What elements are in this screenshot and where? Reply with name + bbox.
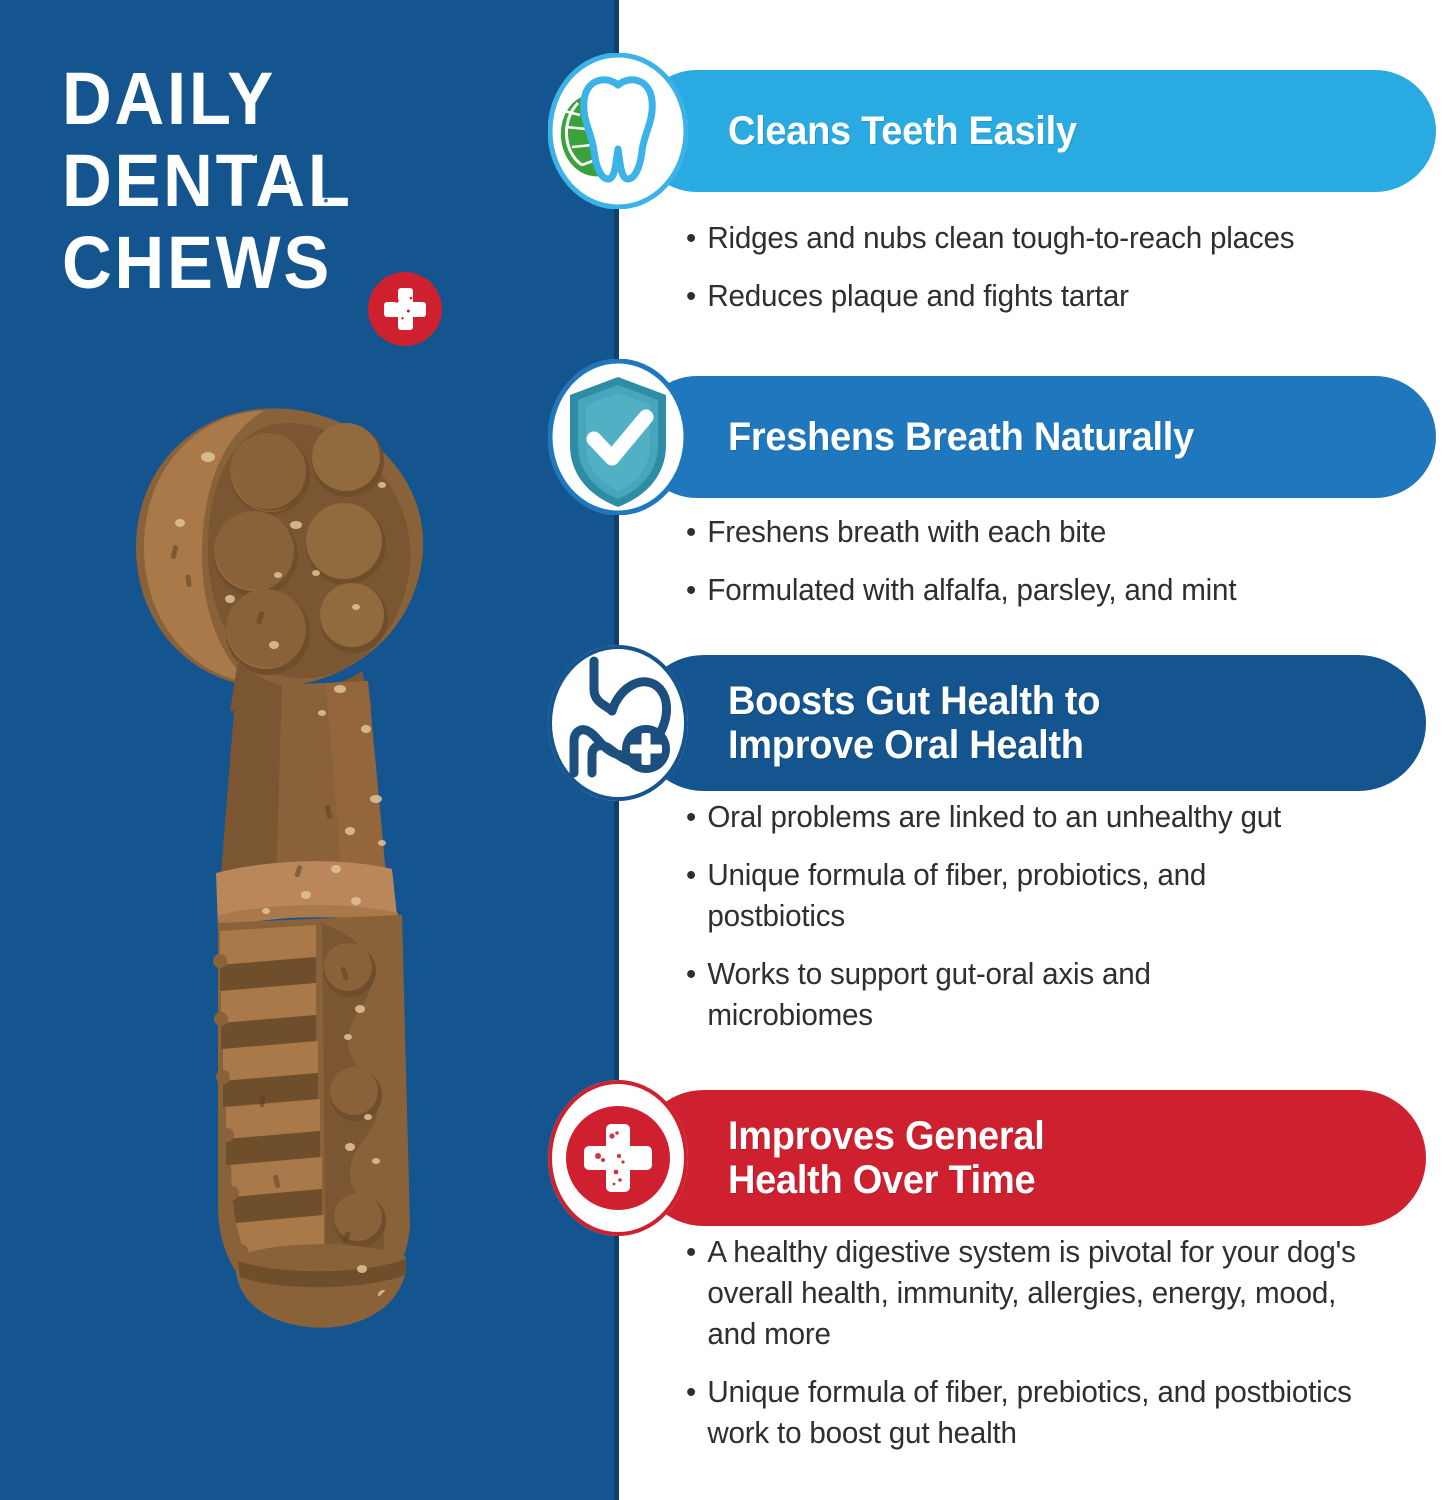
feature-banner-freshens-breath: Freshens Breath Naturally [636,376,1436,498]
feature-bullets-improves-general-health: • A healthy digestive system is pivotal … [686,1232,1416,1471]
page-title: DAILY DENTAL CHEWS [62,58,492,304]
list-item: • Formulated with alfalfa, parsley, and … [686,570,1404,611]
list-item: • Oral problems are linked to an unhealt… [686,797,1423,838]
chew-shaft [220,681,386,887]
title-line-1: DAILY [62,58,462,140]
feature-title: Freshens Breath Naturally [728,415,1194,459]
stomach-plus-icon [548,645,688,801]
list-item: • Works to support gut-oral axis and mic… [686,954,1287,1036]
bullet-text: Unique formula of fiber, probiotics, and… [707,855,1345,937]
infographic-page: DAILY DENTAL CHEWS [0,0,1444,1500]
medical-cross-circle-icon [548,1080,688,1236]
features-column: Cleans Teeth Easily • [618,0,1444,1500]
bullet-text: Ridges and nubs clean tough-to-reach pla… [707,218,1403,259]
bullet-dot: • [686,512,707,553]
feature-bullets-boosts-gut-health: • Oral problems are linked to an unhealt… [686,797,1444,1053]
bullet-dot: • [686,855,707,937]
bullet-dot: • [686,276,707,317]
bullet-text: Freshens breath with each bite [707,512,1403,553]
list-item: • Reduces plaque and fights tartar [686,276,1404,317]
feature-banner-improves-general-health: Improves General Health Over Time [636,1090,1426,1226]
bullet-text: Unique formula of fiber, prebiotics, and… [707,1372,1365,1454]
bullet-dot: • [686,954,707,1036]
feature-title: Boosts Gut Health to Improve Oral Health [728,679,1100,767]
feature-bullets-freshens-breath: • Freshens breath with each bite • Formu… [686,512,1426,628]
bullet-text: A healthy digestive system is pivotal fo… [707,1232,1365,1355]
list-item: • Freshens breath with each bite [686,512,1404,553]
chew-ridges [213,915,410,1328]
list-item: • Unique formula of fiber, probiotics, a… [686,855,1346,937]
feature-banner-boosts-gut-health: Boosts Gut Health to Improve Oral Health [636,655,1426,791]
title-line-2: DENTAL [62,140,462,222]
bullet-dot: • [686,1232,707,1355]
feature-title: Cleans Teeth Easily [728,109,1077,153]
bullet-text: Reduces plaque and fights tartar [707,276,1403,317]
bullet-dot: • [686,1372,707,1454]
list-item: • Ridges and nubs clean tough-to-reach p… [686,218,1404,259]
feature-bullets-cleans-teeth: • Ridges and nubs clean tough-to-reach p… [686,218,1426,334]
feature-banner-cleans-teeth: Cleans Teeth Easily [636,70,1436,192]
bullet-text: Formulated with alfalfa, parsley, and mi… [707,570,1403,611]
shield-check-icon [548,359,688,515]
medical-cross-icon [368,272,442,346]
bullet-text: Oral problems are linked to an unhealthy… [707,797,1423,838]
list-item: • A healthy digestive system is pivotal … [686,1232,1365,1355]
bullet-dot: • [686,570,707,611]
bullet-dot: • [686,797,707,838]
bullet-text: Works to support gut-oral axis and micro… [707,954,1287,1036]
list-item: • Unique formula of fiber, prebiotics, a… [686,1372,1365,1454]
dog-dental-chew-illustration [110,395,510,1355]
bullet-dot: • [686,218,707,259]
tooth-mint-icon [548,53,688,209]
feature-title: Improves General Health Over Time [728,1114,1044,1202]
chew-head [136,408,423,711]
